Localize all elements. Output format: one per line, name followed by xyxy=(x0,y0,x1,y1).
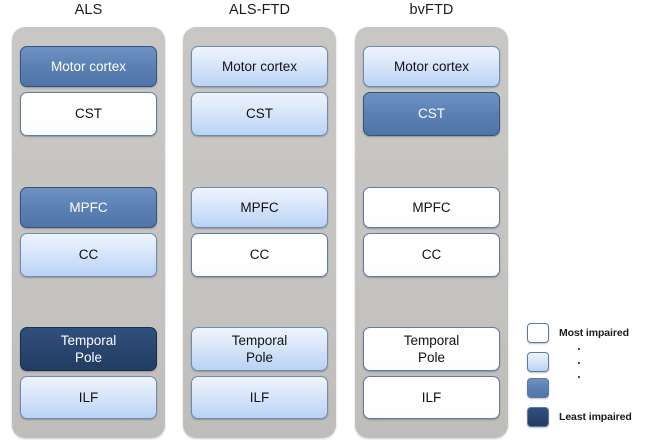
region-box-label: ILF xyxy=(367,389,496,406)
region-box-label: MPFC xyxy=(195,199,324,216)
region-box-label: Motor cortex xyxy=(195,58,324,75)
impairment-legend: Most impairedLeast impaired xyxy=(527,322,650,430)
region-box-als-ftd-ilf: ILF xyxy=(191,376,328,419)
region-box-label: CST xyxy=(195,105,324,122)
legend-swatch-dark xyxy=(527,407,549,427)
legend-dot xyxy=(578,376,580,378)
region-box-als-ftd-motor-cortex: Motor cortex xyxy=(191,46,328,87)
region-box-als-mpfc: MPFC xyxy=(20,187,157,228)
legend-swatch-light xyxy=(527,352,549,372)
impairment-comparison-diagram: ALSMotor cortexCSTMPFCCCTemporalPoleILFA… xyxy=(0,0,650,446)
region-box-als-cc: CC xyxy=(20,233,157,277)
region-box-als-motor-cortex: Motor cortex xyxy=(20,46,157,87)
column-title-bvftd: bvFTD xyxy=(355,2,508,18)
legend-swatch-white xyxy=(527,323,549,343)
legend-label-white: Most impaired xyxy=(559,327,629,339)
region-box-als-ftd-cc: CC xyxy=(191,233,328,277)
region-box-label: CC xyxy=(24,246,153,263)
column-title-als: ALS xyxy=(12,2,165,18)
region-box-label: CST xyxy=(367,105,496,122)
legend-swatch-medium xyxy=(527,378,549,398)
region-box-label: Motor cortex xyxy=(367,58,496,75)
region-box-bvftd-mpfc: MPFC xyxy=(363,187,500,228)
region-box-als-ftd-cst: CST xyxy=(191,92,328,136)
region-box-bvftd-temporal-pole: TemporalPole xyxy=(363,327,500,371)
region-box-bvftd-motor-cortex: Motor cortex xyxy=(363,46,500,87)
region-box-label: CST xyxy=(24,105,153,122)
region-box-label: TemporalPole xyxy=(367,332,496,367)
legend-dot xyxy=(578,348,580,350)
region-box-label: TemporalPole xyxy=(24,332,153,367)
region-box-label: TemporalPole xyxy=(195,332,324,367)
region-box-label: MPFC xyxy=(367,199,496,216)
legend-dot xyxy=(578,362,580,364)
legend-label-dark: Least impaired xyxy=(559,411,632,423)
region-box-bvftd-cc: CC xyxy=(363,233,500,277)
region-box-label: ILF xyxy=(24,389,153,406)
region-box-label: CC xyxy=(367,246,496,263)
region-box-label: MPFC xyxy=(24,199,153,216)
legend-row-dark: Least impaired xyxy=(527,406,650,428)
column-title-als-ftd: ALS-FTD xyxy=(183,2,336,18)
region-box-als-ilf: ILF xyxy=(20,376,157,419)
region-box-bvftd-cst: CST xyxy=(363,92,500,136)
legend-ellipsis-dots xyxy=(559,348,599,378)
region-box-als-ftd-mpfc: MPFC xyxy=(191,187,328,228)
region-box-als-cst: CST xyxy=(20,92,157,136)
region-box-label: ILF xyxy=(195,389,324,406)
region-box-als-ftd-temporal-pole: TemporalPole xyxy=(191,327,328,371)
legend-row-medium xyxy=(527,377,650,399)
region-box-label: CC xyxy=(195,246,324,263)
region-box-label: Motor cortex xyxy=(24,58,153,75)
legend-row-white: Most impaired xyxy=(527,322,650,344)
region-box-bvftd-ilf: ILF xyxy=(363,376,500,419)
region-box-als-temporal-pole: TemporalPole xyxy=(20,327,157,371)
